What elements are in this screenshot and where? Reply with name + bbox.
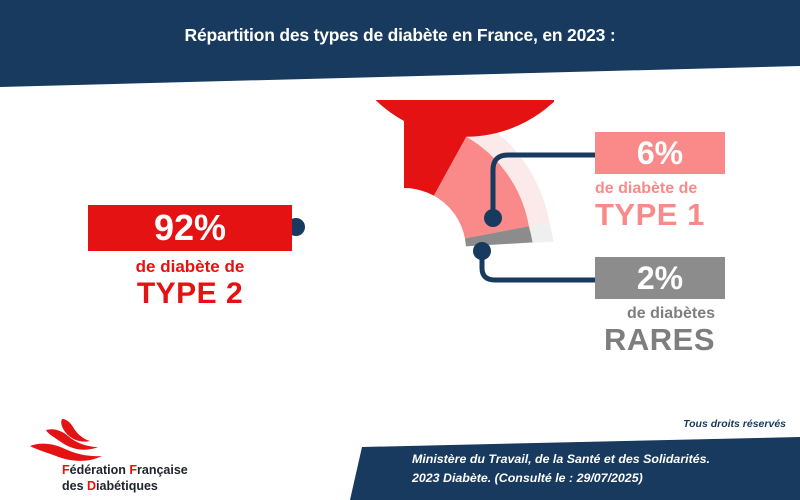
ffd-bird-logo-icon <box>26 418 146 464</box>
logo-pre-des: des <box>62 479 87 493</box>
logo-cap-d: D <box>87 479 96 493</box>
callout-rares-line2: RARES <box>595 324 715 355</box>
source-line-1: Ministère du Travail, de la Santé et des… <box>412 450 792 469</box>
callout-type2-percent: 92% <box>88 205 292 251</box>
logo-text: Fédération Française des Diabétiques <box>62 462 188 494</box>
callout-rares-percent: 2% <box>595 257 725 299</box>
callout-type2: 92% de diabète de TYPE 2 <box>88 205 292 309</box>
callout-type1-percent: 6% <box>595 132 725 174</box>
source-line-2: 2023 Diabète. (Consulté le : 29/07/2025) <box>412 469 792 488</box>
infographic-canvas: Répartition des types de diabète en Fran… <box>0 0 800 500</box>
donut-chart-svg <box>254 100 554 400</box>
donut-center-hole <box>342 188 466 312</box>
logo-text-line-2: des Diabétiques <box>62 478 188 494</box>
logo-rest-1: édération <box>70 463 130 477</box>
logo: Fédération Française des Diabétiques <box>26 418 216 494</box>
logo-rest-3: iabétiques <box>96 479 158 493</box>
logo-cap-f2: F <box>129 463 137 477</box>
source-citation: Ministère du Travail, de la Santé et des… <box>412 450 792 488</box>
page-title: Répartition des types de diabète en Fran… <box>0 25 800 46</box>
callout-type1-line2: TYPE 1 <box>595 199 800 230</box>
callout-type2-line2: TYPE 2 <box>88 279 292 309</box>
callout-type1: 6% de diabète de TYPE 1 <box>595 132 800 230</box>
logo-rest-2: rançaise <box>137 463 188 477</box>
callout-rares-line1: de diabètes <box>595 305 715 323</box>
callout-rares: 2% de diabètes RARES <box>595 257 800 355</box>
rights-notice: Tous droits réservés <box>683 418 786 430</box>
callout-type2-line1: de diabète de <box>88 258 292 277</box>
logo-text-line-1: Fédération Française <box>62 462 188 478</box>
logo-cap-f1: F <box>62 463 70 477</box>
donut-chart <box>254 100 554 400</box>
callout-type1-line1: de diabète de <box>595 180 800 198</box>
